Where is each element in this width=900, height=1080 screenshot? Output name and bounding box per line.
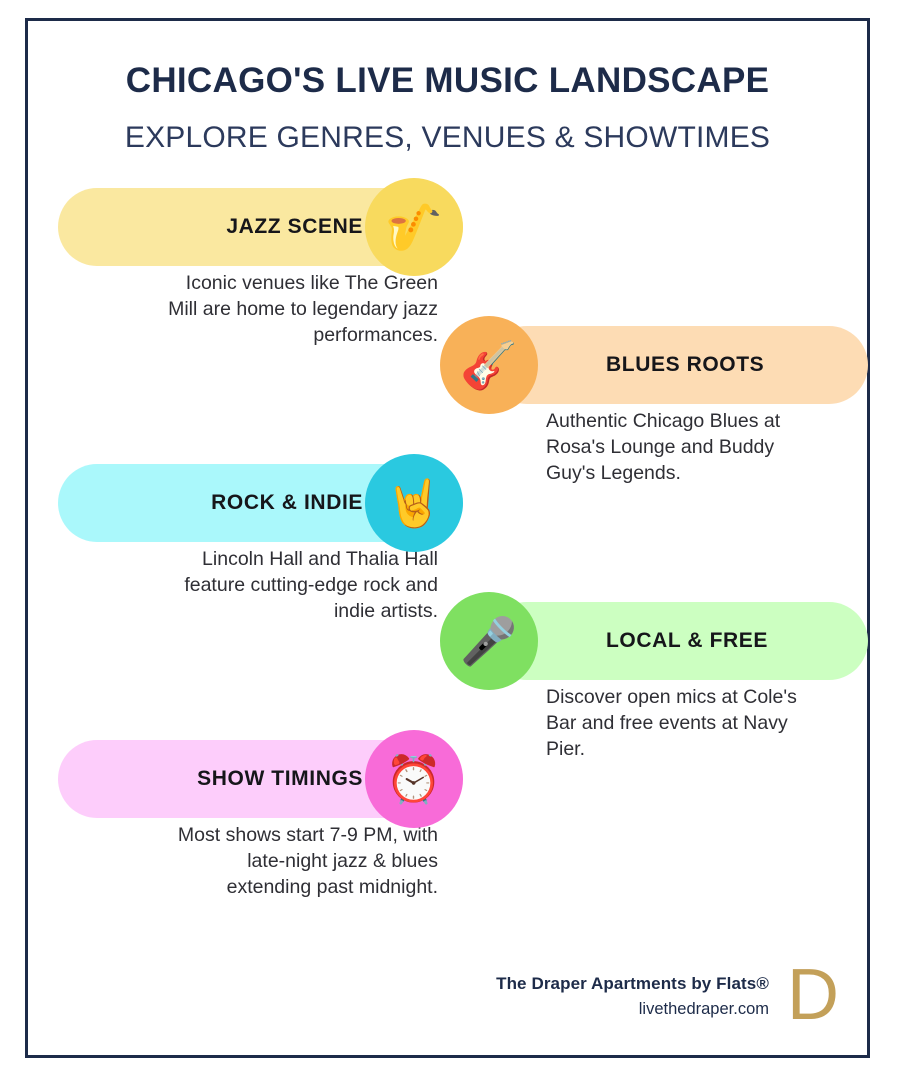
section-row-show-timings: SHOW TIMINGS ⏰ Most shows start 7-9 PM, … [0, 740, 463, 878]
section-label-show-timings: SHOW TIMINGS [197, 767, 363, 791]
section-label-local-free: LOCAL & FREE [606, 629, 768, 653]
section-icon-circle-local-free[interactable]: 🎤 [440, 592, 538, 690]
section-icon-circle-show-timings[interactable]: ⏰ [365, 730, 463, 828]
section-description-jazz-scene: Iconic venues like The Green Mill are ho… [158, 270, 438, 349]
footer-text: The Draper Apartments by Flats® livethed… [496, 974, 769, 1019]
alarm-clock-icon: ⏰ [385, 756, 442, 802]
microphone-icon: 🎤 [460, 618, 517, 664]
brand-name: The Draper Apartments by Flats® [496, 974, 769, 994]
section-row-jazz-scene: JAZZ SCENE 🎷 Iconic venues like The Gree… [0, 188, 463, 326]
header: CHICAGO'S LIVE MUSIC LANDSCAPE EXPLORE G… [28, 21, 867, 156]
section-description-rock-indie: Lincoln Hall and Thalia Hall feature cut… [158, 546, 438, 625]
poster-content: CHICAGO'S LIVE MUSIC LANDSCAPE EXPLORE G… [28, 21, 867, 1055]
section-label-rock-indie: ROCK & INDIE [211, 491, 363, 515]
section-icon-circle-blues-roots[interactable]: 🎸 [440, 316, 538, 414]
section-description-local-free: Discover open mics at Cole's Bar and fre… [546, 684, 826, 763]
section-row-local-free: LOCAL & FREE 🎤 Discover open mics at Col… [428, 602, 868, 740]
rock-on-hand-icon: 🤘 [385, 480, 442, 526]
section-row-rock-indie: ROCK & INDIE 🤘 Lincoln Hall and Thalia H… [0, 464, 463, 602]
section-icon-circle-jazz-scene[interactable]: 🎷 [365, 178, 463, 276]
poster-frame: CHICAGO'S LIVE MUSIC LANDSCAPE EXPLORE G… [25, 18, 870, 1058]
electric-guitar-icon: 🎸 [460, 342, 517, 388]
draper-logo: D [787, 967, 839, 1025]
footer: The Draper Apartments by Flats® livethed… [496, 967, 839, 1025]
sections-list: JAZZ SCENE 🎷 Iconic venues like The Gree… [28, 188, 867, 878]
page-subtitle: EXPLORE GENRES, VENUES & SHOWTIMES [28, 121, 867, 156]
section-pill-local-free[interactable]: LOCAL & FREE [488, 602, 868, 680]
section-icon-circle-rock-indie[interactable]: 🤘 [365, 454, 463, 552]
section-label-blues-roots: BLUES ROOTS [606, 353, 764, 377]
section-label-jazz-scene: JAZZ SCENE [226, 215, 363, 239]
saxophone-icon: 🎷 [385, 204, 442, 250]
section-pill-blues-roots[interactable]: BLUES ROOTS [488, 326, 868, 404]
website-url[interactable]: livethedraper.com [496, 1000, 769, 1019]
section-description-blues-roots: Authentic Chicago Blues at Rosa's Lounge… [546, 408, 826, 487]
section-row-blues-roots: BLUES ROOTS 🎸 Authentic Chicago Blues at… [428, 326, 868, 464]
section-description-show-timings: Most shows start 7-9 PM, with late-night… [158, 822, 438, 901]
page-title: CHICAGO'S LIVE MUSIC LANDSCAPE [28, 61, 867, 101]
